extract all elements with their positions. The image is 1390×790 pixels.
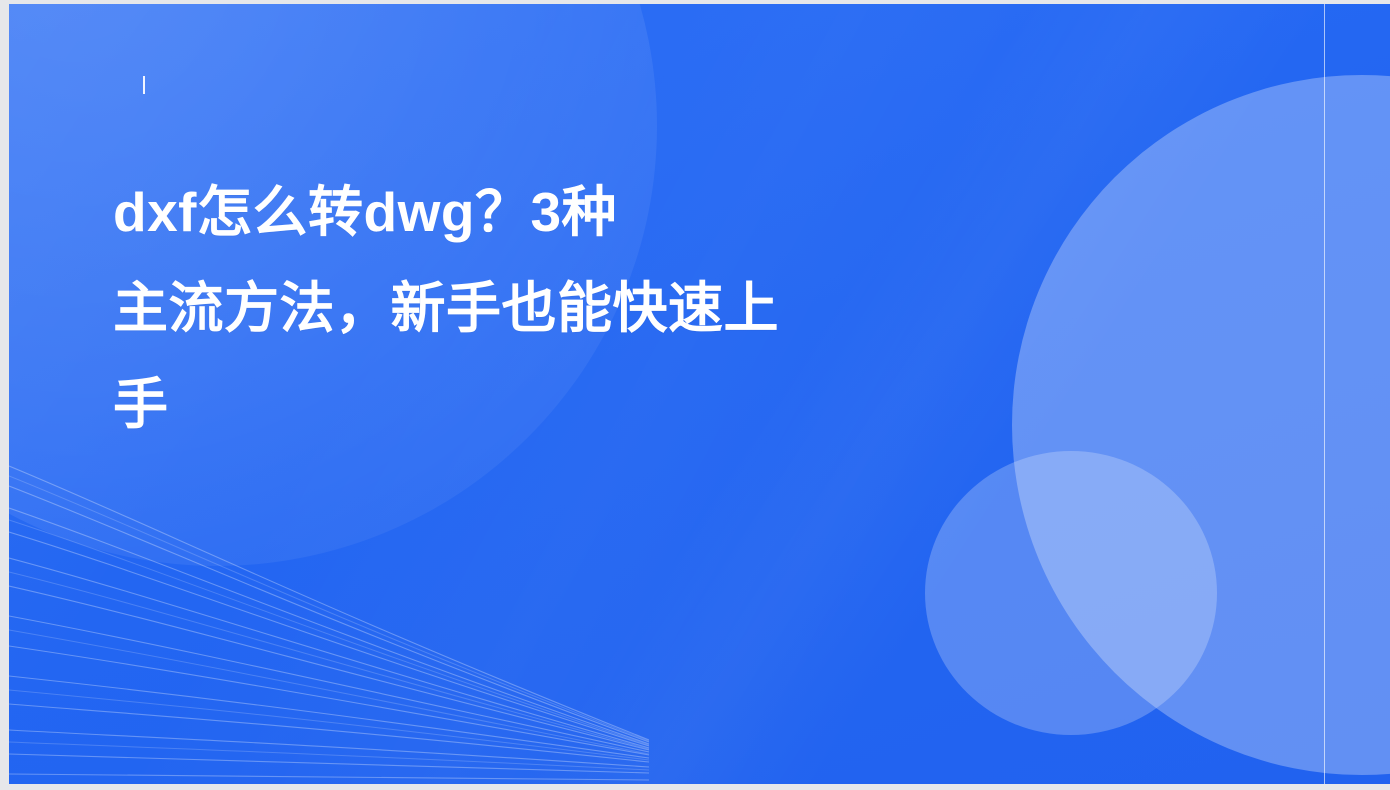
title-line-2: 主流方法，新手也能快速上 <box>113 260 883 356</box>
accent-tick-mark-icon <box>143 76 145 94</box>
title-line-3: 手 <box>113 356 883 452</box>
slide-canvas: dxf怎么转dwg？3种 主流方法，新手也能快速上 手 <box>9 4 1390 784</box>
vertical-divider-line <box>1324 4 1325 784</box>
slide-root: dxf怎么转dwg？3种 主流方法，新手也能快速上 手 <box>0 0 1390 790</box>
decorative-circle-small-icon <box>925 451 1217 735</box>
title-line-1: dxf怎么转dwg？3种 <box>113 164 883 260</box>
page-title: dxf怎么转dwg？3种 主流方法，新手也能快速上 手 <box>113 164 883 452</box>
